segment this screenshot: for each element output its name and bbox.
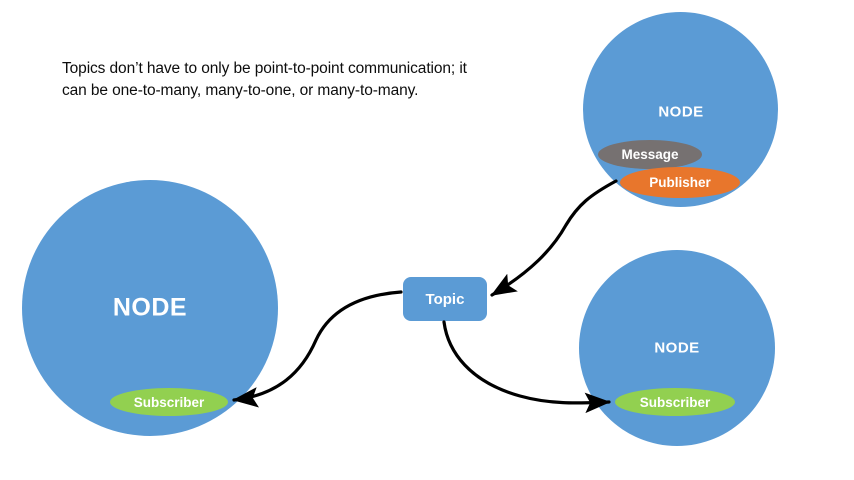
node-top-right-label: NODE	[658, 104, 703, 121]
subscriber-pill-bottom-right: Subscriber	[615, 388, 735, 416]
node-left-label: NODE	[113, 294, 187, 323]
caption-text: Topics don’t have to only be point-to-po…	[62, 58, 482, 103]
node-bottom-right-label: NODE	[654, 340, 699, 357]
subscriber-pill-left: Subscriber	[110, 388, 228, 416]
diagram-canvas: Topics don’t have to only be point-to-po…	[0, 0, 854, 480]
arrow-publisher-to-topic	[492, 181, 616, 295]
publisher-pill: Publisher	[620, 167, 740, 198]
topic-box[interactable]: Topic	[403, 277, 487, 321]
message-pill: Message	[598, 140, 702, 169]
